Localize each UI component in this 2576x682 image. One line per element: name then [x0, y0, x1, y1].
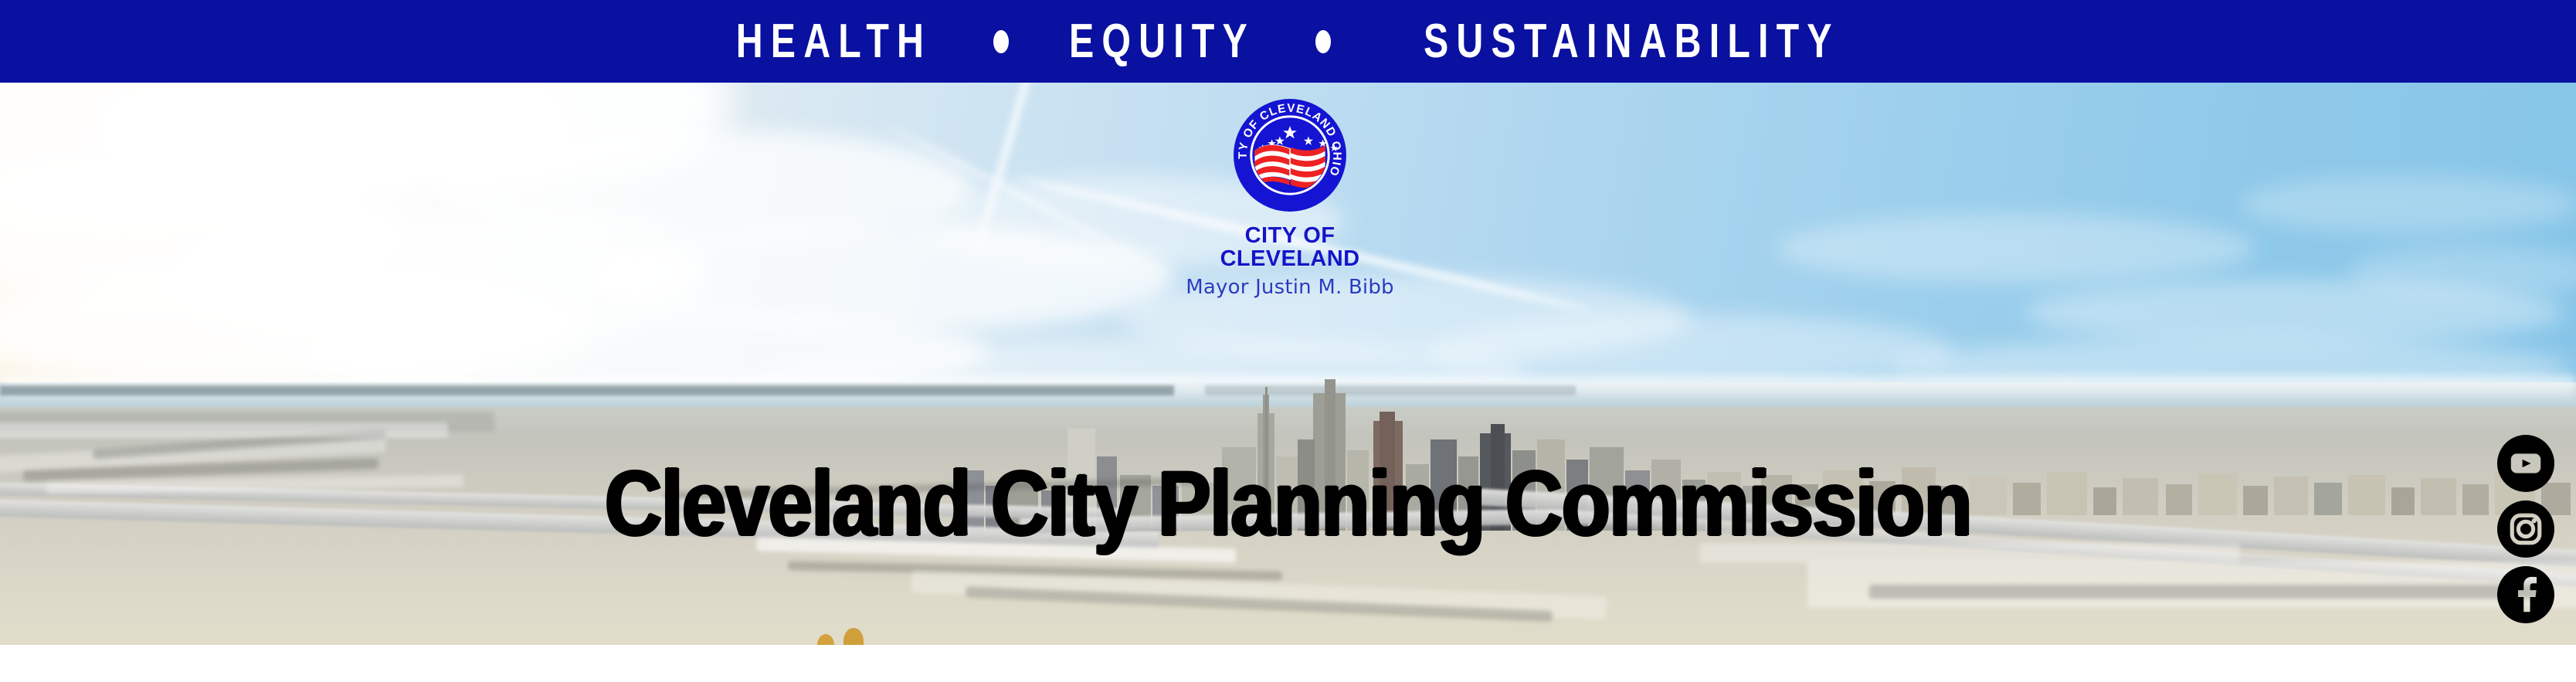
residential-block-left	[0, 616, 695, 645]
bullet-dot-icon	[1315, 30, 1331, 53]
industrial-flats	[695, 623, 1545, 645]
page-title: Cleveland City Planning Commission	[0, 457, 2576, 549]
city-of-cleveland-logo: CITY OF CLEVELAND OHIO	[1174, 97, 1406, 299]
tagline-word-health: HEALTH	[736, 18, 932, 66]
bullet-dot-icon	[993, 30, 1009, 53]
logo-city-label: CITY OF CLEVELAND	[1174, 224, 1406, 271]
tagline-word-sustainability: SUSTAINABILITY	[1424, 18, 1840, 66]
tagline-bar: HEALTH EQUITY SUSTAINABILITY	[0, 0, 2576, 83]
social-links	[2497, 435, 2554, 632]
page-bottom-whitespace	[0, 645, 2576, 682]
tagline-inner: HEALTH EQUITY SUSTAINABILITY	[708, 18, 1898, 66]
residential-block-right	[1746, 614, 2576, 645]
logo-mayor-label: Mayor Justin M. Bibb	[1174, 276, 1406, 299]
page-root: HEALTH EQUITY SUSTAINABILITY	[0, 0, 2576, 682]
facebook-icon[interactable]	[2497, 566, 2554, 623]
tagline-word-equity: EQUITY	[1069, 18, 1255, 66]
instagram-icon[interactable]	[2497, 500, 2554, 558]
youtube-icon[interactable]	[2497, 435, 2554, 492]
city-seal-icon: CITY OF CLEVELAND OHIO	[1231, 97, 1349, 214]
